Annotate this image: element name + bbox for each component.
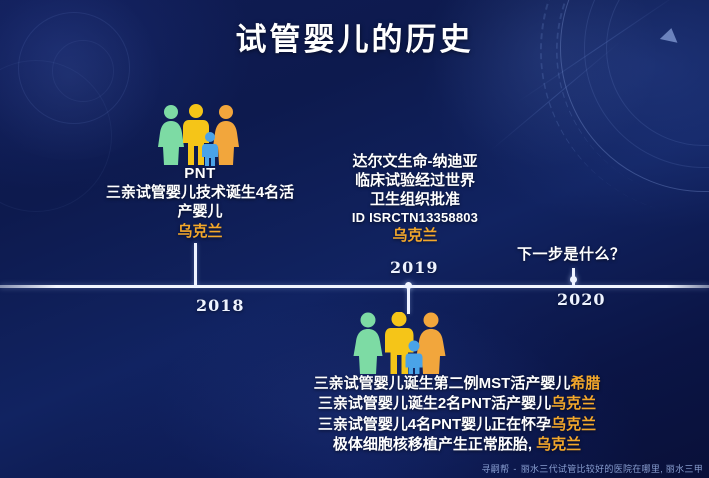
event-darwin-2019: 达尔文生命-纳迪亚 临床试验经过世界 卫生组织批准 ID ISRCTN13358… (325, 152, 505, 245)
watermark: 寻嗣帮-丽水三代试管比较好的医院在哪里, 丽水三甲 (481, 462, 703, 475)
list-item-country: 希腊 (570, 375, 600, 392)
event-darwin-line3: 卫生组织批准 (325, 190, 505, 209)
timeline-year-2020: 2020 (557, 290, 606, 309)
bottom-event-list: 三亲试管婴儿诞生第二例MST活产婴儿希腊 三亲试管婴儿诞生2名PNT活产婴儿乌克… (292, 374, 622, 455)
watermark-separator: - (513, 464, 516, 474)
list-item-country: 乌克兰 (536, 436, 581, 453)
list-item-text: 三亲试管婴儿诞生2名PNT活产婴儿 (318, 395, 551, 412)
event-darwin-country: 乌克兰 (325, 226, 505, 245)
list-item-text: 三亲试管婴儿4名PNT婴儿正在怀孕 (318, 416, 551, 433)
timeline-year-2018: 2018 (196, 296, 245, 315)
watermark-text: 丽水三代试管比较好的医院在哪里, 丽水三甲 (521, 464, 703, 474)
timeline-year-2019: 2019 (390, 258, 439, 277)
list-item-text: 极体细胞核移植产生正常胚胎, (333, 436, 532, 453)
list-item-text: 三亲试管婴儿诞生第二例MST活产婴儿 (314, 375, 571, 392)
family-three-parents-child-icon-bottom (353, 312, 447, 379)
timeline-tick-2020 (572, 268, 575, 286)
timeline-axis (0, 285, 709, 288)
timeline-tick-2019 (407, 286, 410, 314)
next-step-label: 下一步是什么？ (517, 243, 626, 264)
list-item-country: 乌克兰 (551, 395, 596, 412)
event-darwin-trial-id: ID ISRCTN13358803 (325, 210, 505, 227)
event-pnt-label: PNT (105, 164, 295, 183)
event-pnt-country: 乌克兰 (105, 222, 295, 241)
event-pnt-line1: 三亲试管婴儿技术诞生4名活 (105, 183, 295, 202)
list-item: 三亲试管婴儿4名PNT婴儿正在怀孕乌克兰 (292, 415, 622, 435)
event-darwin-line1: 达尔文生命-纳迪亚 (325, 152, 505, 171)
timeline-tick-2018 (194, 243, 197, 287)
watermark-brand: 寻嗣帮 (481, 464, 509, 474)
list-item: 极体细胞核移植产生正常胚胎, 乌克兰 (292, 435, 622, 455)
page-title: 试管婴儿的历史 (0, 14, 709, 59)
event-pnt-2018: PNT 三亲试管婴儿技术诞生4名活 产婴儿 乌克兰 (105, 164, 295, 241)
slide-canvas: 试管婴儿的历史 2018 2019 2020 (0, 0, 709, 478)
event-pnt-line2: 产婴儿 (105, 202, 295, 221)
event-darwin-line2: 临床试验经过世界 (325, 171, 505, 190)
family-three-parents-child-icon-top (158, 104, 240, 171)
list-item: 三亲试管婴儿诞生2名PNT活产婴儿乌克兰 (292, 394, 622, 414)
list-item: 三亲试管婴儿诞生第二例MST活产婴儿希腊 (292, 374, 622, 394)
list-item-country: 乌克兰 (551, 416, 596, 433)
